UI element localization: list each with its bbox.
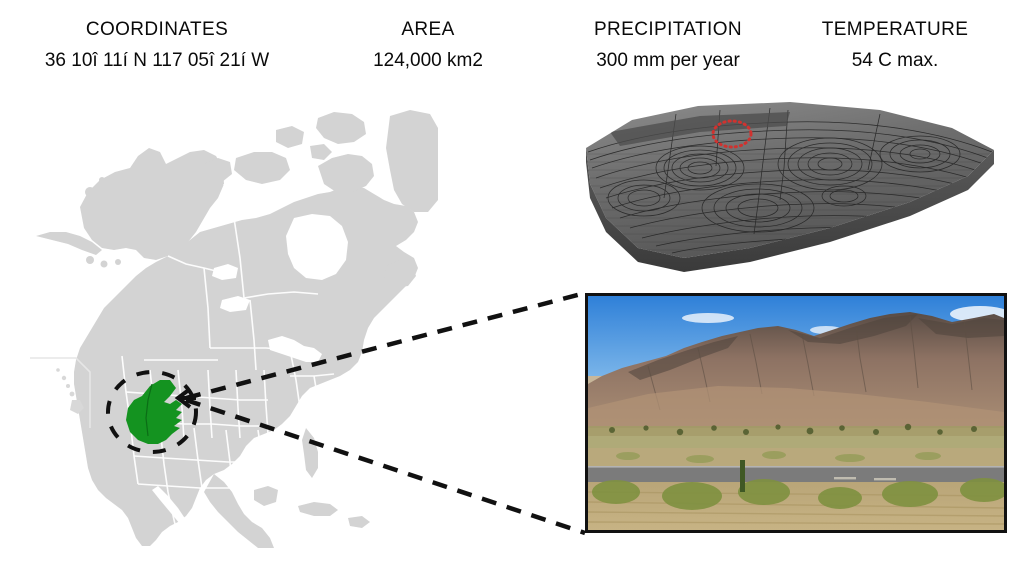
north-america-map	[18, 108, 438, 548]
photo-road	[588, 466, 1004, 484]
arctic-isle-small-a	[276, 126, 304, 148]
ellesmere-island	[316, 112, 366, 144]
arctic-isle-small-b	[310, 144, 332, 160]
photo-desert-flat	[588, 448, 1004, 468]
hispaniola-island	[348, 516, 370, 528]
stat-label-precipitation: PRECIPITATION	[594, 18, 742, 42]
hawaii-isle-2	[62, 376, 66, 380]
hawaii-isle-1	[56, 368, 60, 372]
pribilof-island	[99, 177, 105, 183]
desert-landscape-photo	[585, 293, 1007, 533]
stat-value-temperature: 54 C max.	[822, 48, 969, 74]
yucatan-peninsula	[254, 486, 278, 506]
baffin-island	[318, 154, 374, 192]
stat-label-temperature: TEMPERATURE	[822, 18, 969, 42]
florida-peninsula	[302, 428, 318, 478]
aleutian-isle-b	[101, 261, 108, 268]
stat-label-area: AREA	[373, 18, 483, 42]
stat-label-coordinates: COORDINATES	[45, 18, 269, 42]
hawaii-isle-3	[66, 384, 70, 388]
photo-foreground-cactus	[740, 460, 745, 492]
photo-cloud-a	[682, 313, 734, 323]
stat-column-precipitation: PRECIPITATION 300 mm per year	[594, 18, 742, 74]
stat-value-area: 124,000 km2	[373, 48, 483, 74]
infographic-page: COORDINATES 36 10î 11í N 117 05î 21í W A…	[0, 0, 1024, 576]
photo-road-edge-line	[588, 466, 1004, 468]
victoria-island	[234, 152, 290, 184]
kodiak-island	[85, 187, 95, 197]
stat-value-coordinates: 36 10î 11í N 117 05î 21í W	[45, 48, 269, 74]
map-landmass	[36, 110, 438, 548]
greenland-edge	[386, 110, 438, 212]
stat-value-precipitation: 300 mm per year	[594, 48, 742, 74]
aleutian-isle-a	[86, 256, 94, 264]
stat-column-temperature: TEMPERATURE 54 C max.	[822, 18, 969, 74]
3d-topographic-block-model	[580, 98, 1000, 278]
stat-column-coordinates: COORDINATES 36 10î 11í N 117 05î 21í W	[45, 18, 269, 74]
cuba-island	[298, 502, 338, 516]
aleutian-isle-c	[115, 259, 121, 265]
hawaii-isle-4	[70, 392, 75, 397]
stat-column-area: AREA 124,000 km2	[373, 18, 483, 74]
